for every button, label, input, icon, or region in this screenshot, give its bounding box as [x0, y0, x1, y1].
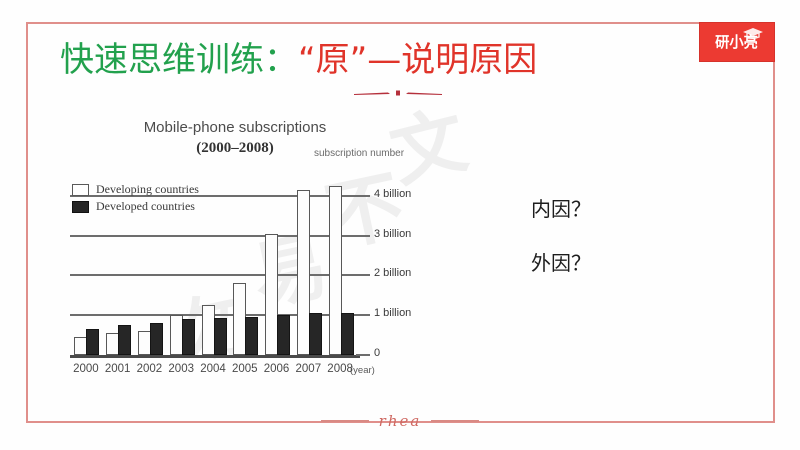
chart-title: Mobile-phone subscriptions — [110, 118, 360, 137]
footer-rule-left — [321, 420, 369, 422]
chart-bar — [341, 313, 354, 355]
chart-bar — [150, 323, 163, 355]
page-title-red: “原”—说明原因 — [298, 40, 537, 80]
chart-x-tick-label: 2007 — [292, 363, 324, 375]
chart-y-tick — [356, 195, 370, 197]
chart-figure: Mobile-phone subscriptions (2000–2008) s… — [56, 118, 456, 393]
chart-y-tick-label: 4 billion — [374, 188, 411, 200]
legend-swatch-developed — [72, 201, 89, 213]
chart-bar — [309, 313, 322, 355]
chart-x-tick-label: 2005 — [229, 363, 261, 375]
chart-x-tick-label: 2000 — [70, 363, 102, 375]
legend-label-developing: Developing countries — [96, 182, 199, 197]
chart-y-tick — [356, 235, 370, 237]
chart-bar — [245, 317, 258, 355]
chart-y-tick — [356, 314, 370, 316]
chart-x-tick-label: 2006 — [261, 363, 293, 375]
chart-axis-caption: subscription number — [314, 148, 404, 159]
footer-brand-bar: rhea — [0, 406, 800, 436]
brand-logo: 研小亮 — [700, 23, 774, 61]
logo-text: 研小亮 — [716, 35, 759, 50]
chart-x-tick-label: 2008 — [324, 363, 356, 375]
footer-rule-right — [431, 420, 479, 422]
legend-label-developed: Developed countries — [96, 199, 195, 214]
question-internal-cause: 内因？ — [531, 198, 591, 220]
chart-bar — [214, 318, 227, 355]
chart-x-tick-label: 2003 — [165, 363, 197, 375]
chart-x-tick-label: 2001 — [102, 363, 134, 375]
chart-x-tick-label: 2004 — [197, 363, 229, 375]
chart-baseline — [70, 355, 360, 358]
chart-y-tick — [356, 274, 370, 276]
chart-y-tick — [356, 354, 370, 356]
slide-canvas: 文 不 易 勿 研小亮 快速思维训练：“原”—说明原因 Mobile-phone… — [0, 0, 800, 450]
question-list: 内因？ 外因？ — [531, 198, 591, 306]
question-external-cause: 外因？ — [531, 252, 591, 274]
chart-x-axis-labels: (year) 200020012002200320042005200620072… — [64, 363, 404, 381]
chart-gridline — [70, 274, 356, 276]
legend-swatch-developing — [72, 184, 89, 196]
chart-bar — [277, 315, 290, 355]
chart-bar — [118, 325, 131, 355]
legend-item-developed: Developed countries — [72, 199, 199, 214]
chart-bar — [86, 329, 99, 355]
page-title-green: 快速思维训练： — [60, 40, 298, 80]
chart-gridline — [70, 235, 356, 237]
footer-brand-text: rhea — [379, 412, 422, 430]
title-divider-ornament — [352, 86, 444, 100]
chart-y-tick-label: 2 billion — [374, 267, 411, 279]
chart-bar — [182, 319, 195, 355]
chart-y-tick-label: 0 — [374, 347, 380, 359]
chart-x-tick-label: 2002 — [134, 363, 166, 375]
chart-legend: Developing countries Developed countries — [72, 182, 199, 216]
chart-y-tick-label: 3 billion — [374, 228, 411, 240]
legend-item-developing: Developing countries — [72, 182, 199, 197]
chart-y-tick-label: 1 billion — [374, 307, 411, 319]
page-title: 快速思维训练：“原”—说明原因 — [60, 36, 700, 84]
